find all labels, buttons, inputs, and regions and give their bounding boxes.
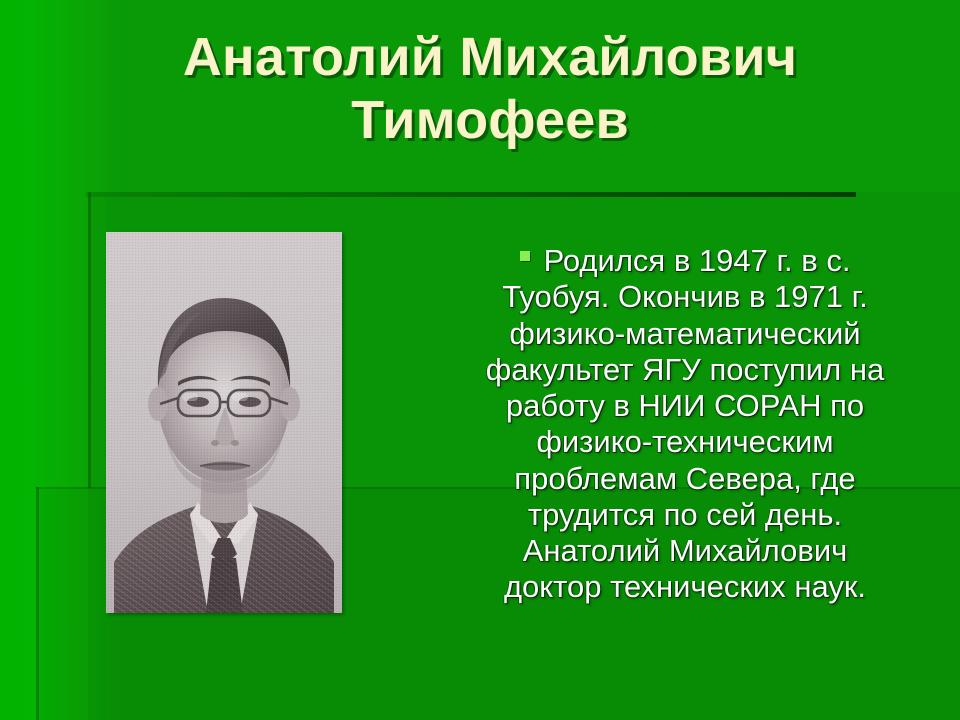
background-vertical-rule-upper [88, 192, 91, 488]
biography-line: физико-математический [440, 316, 930, 352]
biography-line: трудится по сей день. [440, 497, 930, 533]
biography-text-block: Родился в 1947 г. в с. Туобуя. Окончив в… [440, 243, 930, 606]
biography-line: проблемам Севера, где [440, 461, 930, 497]
biography-line: физико-техническим [440, 424, 930, 460]
square-bullet-icon [520, 251, 530, 261]
biography-line-text: Родился в 1947 г. в с. [544, 243, 851, 278]
biography-line: Родился в 1947 г. в с. [440, 243, 930, 279]
presentation-slide: Анатолий Михайлович Тимофеев [0, 0, 960, 720]
title-divider-rule [86, 192, 856, 197]
biography-line: факультет ЯГУ поступил на [440, 352, 930, 388]
biography-line: Анатолий Михайлович [440, 533, 930, 569]
biography-line: работу в НИИ СОРАН по [440, 388, 930, 424]
background-vertical-rule-lower [36, 487, 39, 720]
biography-line: Туобуя. Окончив в 1971 г. [440, 279, 930, 315]
portrait-photo [106, 232, 342, 613]
portrait-photo-image [106, 232, 342, 613]
biography-line: доктор технических наук. [440, 569, 930, 605]
slide-title: Анатолий Михайлович Тимофеев [60, 26, 920, 152]
